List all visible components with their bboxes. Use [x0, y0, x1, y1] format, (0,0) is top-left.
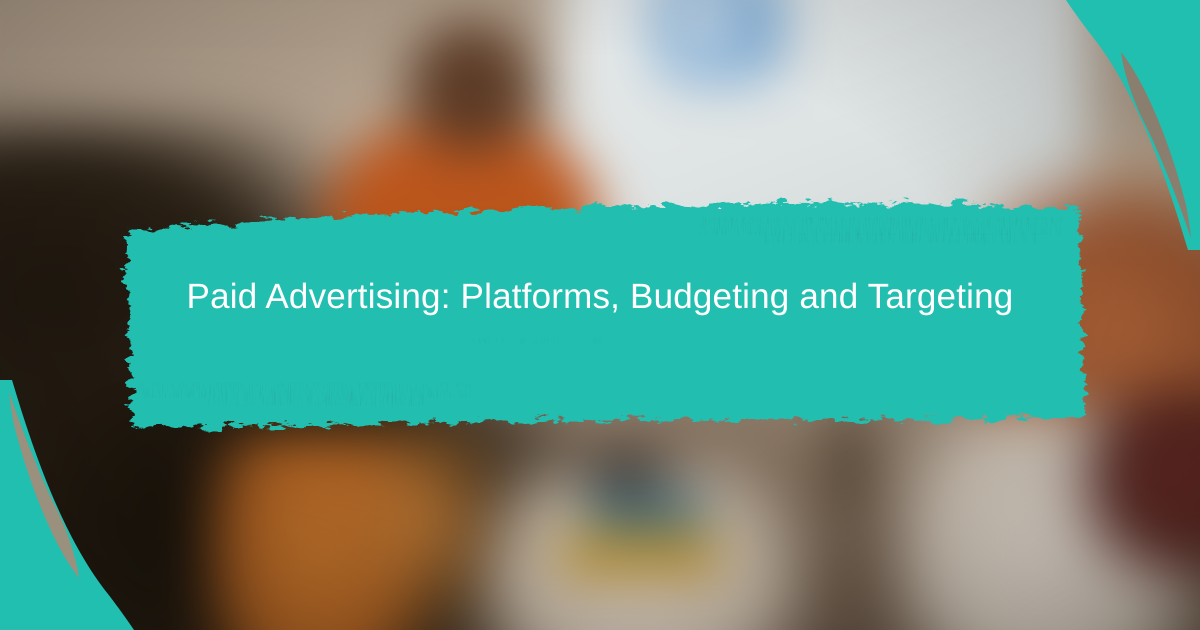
- page-title: Paid Advertising: Platforms, Budgeting a…: [150, 268, 1050, 325]
- cover-image: Paid Advertising: Platforms, Budgeting a…: [0, 0, 1200, 630]
